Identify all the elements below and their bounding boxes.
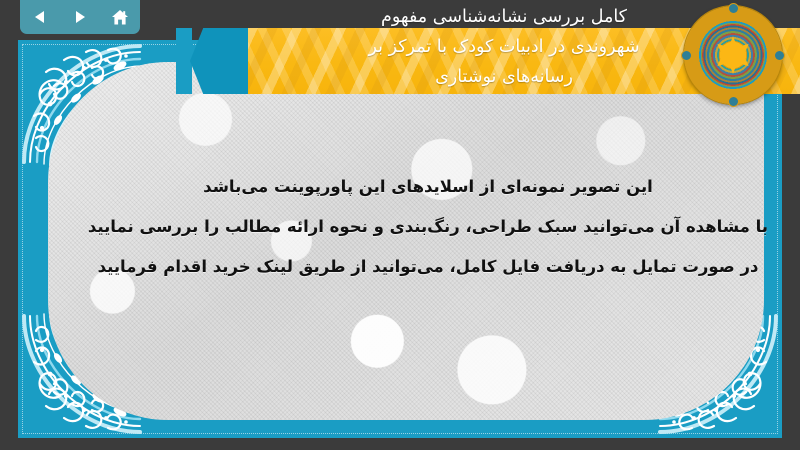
slide-content-panel: این تصویر نمونه‌ای از اسلایدهای این پاور… xyxy=(48,62,764,420)
medallion-dot-top xyxy=(729,4,738,13)
next-slide-button[interactable] xyxy=(65,4,95,30)
body-line-3: در صورت تمایل به دریافت فایل کامل، می‌تو… xyxy=(88,247,768,287)
triangle-right-icon xyxy=(72,9,88,25)
navigation-bar xyxy=(20,0,140,34)
triangle-left-icon xyxy=(32,9,48,25)
slide-frame: این تصویر نمونه‌ای از اسلایدهای این پاور… xyxy=(18,40,782,438)
medallion-dot-right xyxy=(775,51,784,60)
home-button[interactable] xyxy=(105,4,135,30)
medallion-dot-bottom xyxy=(729,97,738,106)
body-line-1: این تصویر نمونه‌ای از اسلایدهای این پاور… xyxy=(88,167,768,207)
home-icon xyxy=(111,9,129,26)
header-chevron-tab xyxy=(176,28,192,94)
slide-viewer: این تصویر نمونه‌ای از اسلایدهای این پاور… xyxy=(0,0,800,450)
slide-body-text: این تصویر نمونه‌ای از اسلایدهای این پاور… xyxy=(88,167,768,287)
body-line-2: با مشاهده آن می‌توانید سبک طراحی، رنگ‌بن… xyxy=(88,207,768,247)
medallion-star-icon xyxy=(714,36,752,74)
medallion-dot-left xyxy=(682,51,691,60)
ornamental-medallion-icon xyxy=(684,6,782,104)
previous-slide-button[interactable] xyxy=(25,4,55,30)
